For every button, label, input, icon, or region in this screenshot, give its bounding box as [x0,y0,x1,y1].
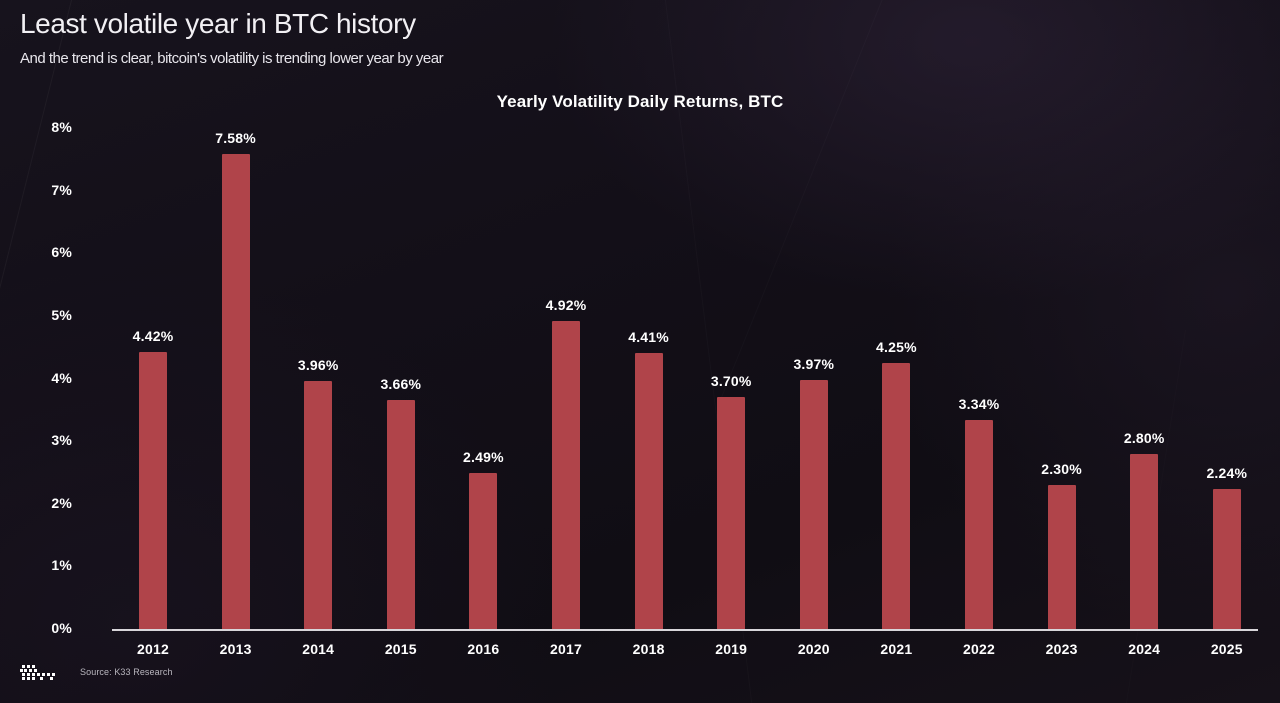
bar-value-label: 2.80% [1084,430,1204,446]
bar[interactable] [222,154,250,629]
bar[interactable] [552,321,580,629]
y-axis-tick-label: 0% [12,620,72,636]
bar[interactable] [304,381,332,629]
bar-value-label: 2.30% [1002,461,1122,477]
bar-value-label: 4.25% [836,339,956,355]
bar[interactable] [800,380,828,629]
y-axis-tick-label: 5% [12,307,72,323]
bar-value-label: 3.96% [258,357,378,373]
y-axis-tick-label: 2% [12,495,72,511]
bar[interactable] [387,400,415,629]
bar[interactable] [139,352,167,629]
bar-value-label: 3.70% [671,373,791,389]
y-axis-tick-label: 3% [12,432,72,448]
bar-value-label: 3.66% [341,376,461,392]
bar-value-label: 3.97% [754,356,874,372]
x-axis-tick-label: 2025 [1167,641,1280,657]
bar[interactable] [1213,489,1241,629]
y-axis-tick-label: 4% [12,370,72,386]
bar-value-label: 4.92% [506,297,626,313]
bar-value-label: 3.34% [919,396,1039,412]
y-axis-tick-label: 6% [12,244,72,260]
bar[interactable] [882,363,910,629]
x-axis-baseline [112,629,1258,631]
y-axis-tick-label: 8% [12,119,72,135]
bar[interactable] [717,397,745,629]
bar[interactable] [469,473,497,629]
bar-value-label: 4.42% [93,328,213,344]
k33-logo-icon [20,663,64,685]
bar[interactable] [635,353,663,629]
bar-value-label: 4.41% [589,329,709,345]
bar-value-label: 7.58% [176,130,296,146]
bar[interactable] [1130,454,1158,629]
y-axis-tick-label: 1% [12,557,72,573]
source-caption: Source: K33 Research [80,667,173,677]
slide-canvas: Least volatile year in BTC history And t… [0,0,1280,703]
bar[interactable] [1048,485,1076,629]
y-axis-tick-label: 7% [12,182,72,198]
bar-chart-plot-area: 8%7%6%5%4%3%2%1%0%4.42%20127.58%20133.96… [0,0,1280,703]
bar[interactable] [965,420,993,629]
bar-value-label: 2.49% [423,449,543,465]
bar-value-label: 2.24% [1167,465,1280,481]
